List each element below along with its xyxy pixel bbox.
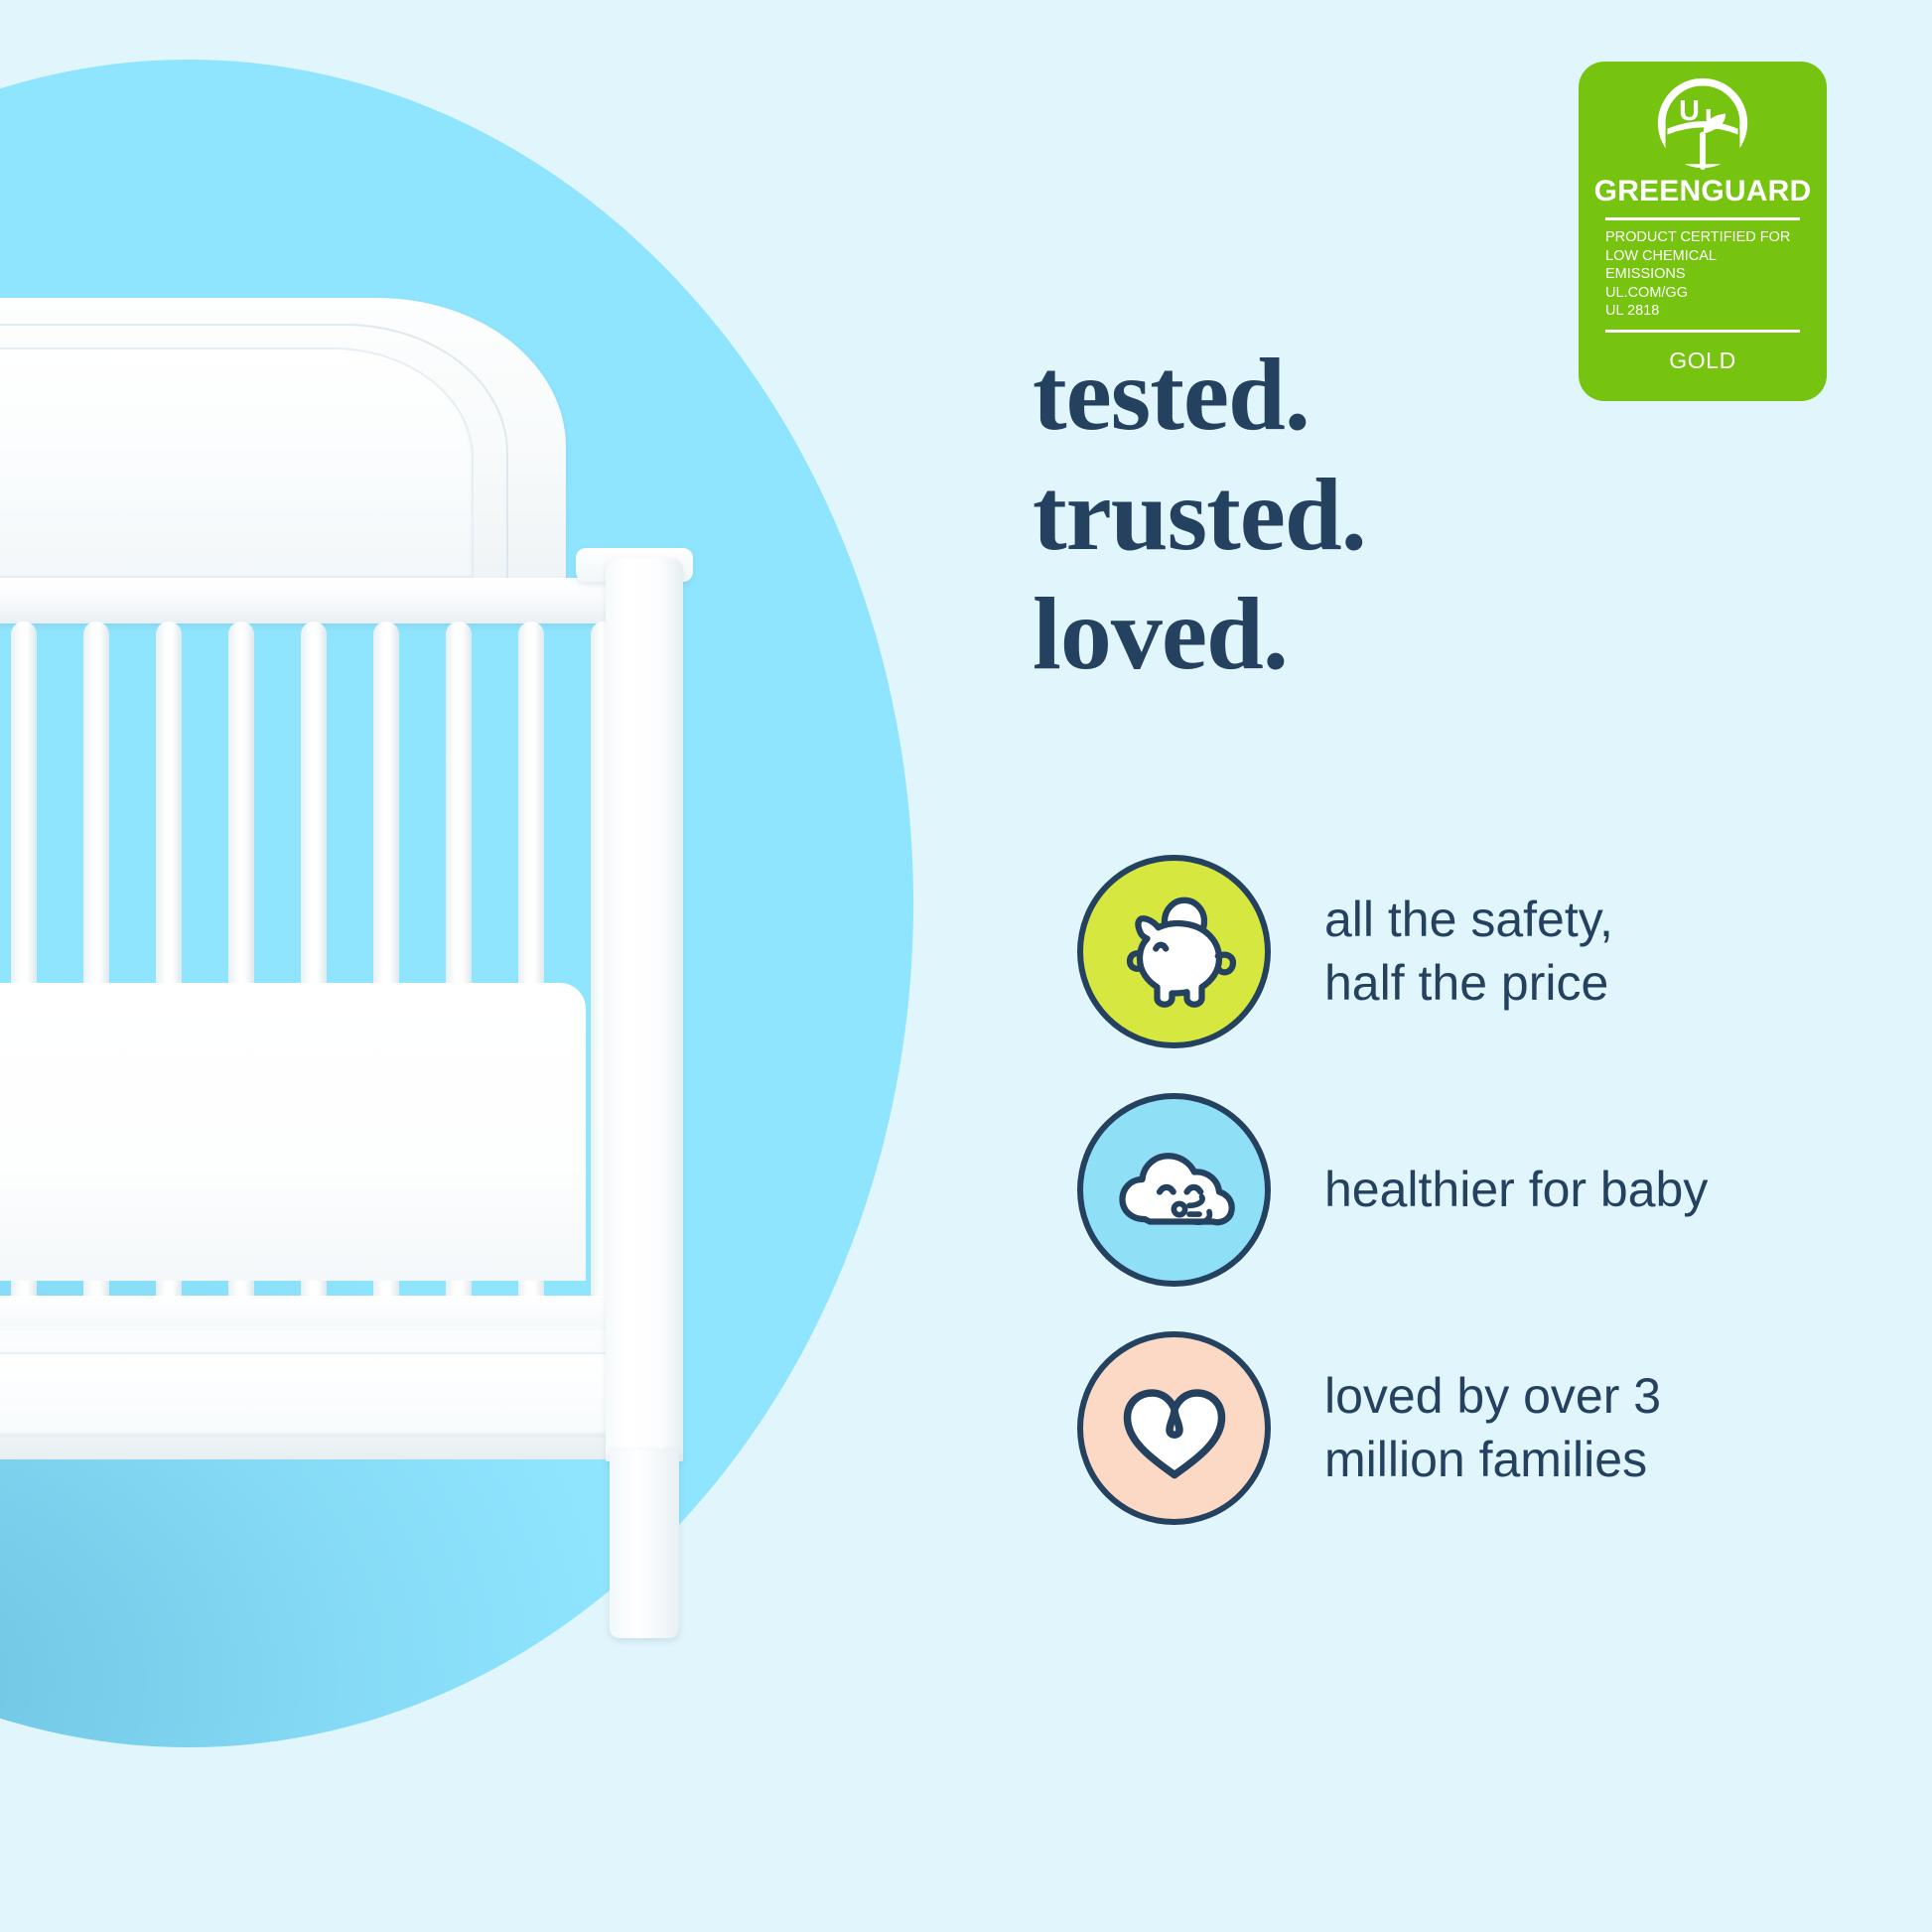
crib-top-rail bbox=[0, 578, 675, 623]
greenguard-level: GOLD bbox=[1669, 347, 1736, 374]
headline-line-1: tested. bbox=[1033, 336, 1366, 456]
greenguard-detail-line-4: UL 2818 bbox=[1605, 302, 1800, 321]
feature-1-line-1: all the safety, bbox=[1324, 888, 1613, 951]
greenguard-detail-line-2: LOW CHEMICAL EMISSIONS bbox=[1605, 247, 1800, 284]
crib-skirt-panel bbox=[0, 1330, 675, 1459]
cloud-face-icon bbox=[1077, 1093, 1271, 1287]
greenguard-detail-line-3: UL.COM/GG bbox=[1605, 284, 1800, 303]
feature-list: all the safety, half the price healthier… bbox=[1077, 832, 1871, 1547]
crib-headboard bbox=[0, 298, 566, 596]
piggy-bank-icon bbox=[1077, 855, 1271, 1048]
greenguard-certification-badge: U L GREENGUARD PRODUCT CERTIFIED FOR LOW… bbox=[1579, 62, 1827, 401]
heart-icon bbox=[1077, 1331, 1271, 1525]
greenguard-detail-line-1: PRODUCT CERTIFIED FOR bbox=[1605, 228, 1800, 247]
headline: tested. trusted. loved. bbox=[1033, 336, 1366, 695]
headline-line-3: loved. bbox=[1033, 575, 1366, 695]
feature-row-loved: loved by over 3 million families bbox=[1077, 1309, 1871, 1547]
ul-leaf-icon: U L bbox=[1655, 75, 1750, 171]
feature-text-loved: loved by over 3 million families bbox=[1324, 1364, 1661, 1491]
marketing-image: U L GREENGUARD PRODUCT CERTIFIED FOR LOW… bbox=[0, 0, 1932, 1932]
crib-product-image bbox=[0, 298, 804, 1787]
headline-line-2: trusted. bbox=[1033, 456, 1366, 576]
badge-divider-bottom bbox=[1605, 330, 1800, 333]
feature-3-line-1: loved by over 3 bbox=[1324, 1364, 1661, 1428]
svg-text:U: U bbox=[1679, 95, 1700, 127]
feature-1-line-2: half the price bbox=[1324, 951, 1613, 1015]
greenguard-details: PRODUCT CERTIFIED FOR LOW CHEMICAL EMISS… bbox=[1605, 228, 1800, 321]
crib-leg bbox=[610, 1449, 679, 1638]
crib-corner-post bbox=[606, 558, 683, 1461]
badge-divider-top bbox=[1605, 217, 1800, 220]
feature-row-safety-price: all the safety, half the price bbox=[1077, 832, 1871, 1070]
feature-text-healthier: healthier for baby bbox=[1324, 1158, 1708, 1221]
crib-mattress bbox=[0, 983, 586, 1281]
feature-text-safety-price: all the safety, half the price bbox=[1324, 888, 1613, 1015]
feature-2-line-1: healthier for baby bbox=[1324, 1158, 1708, 1221]
greenguard-title: GREENGUARD bbox=[1594, 175, 1812, 208]
feature-row-healthier: healthier for baby bbox=[1077, 1070, 1871, 1309]
crib-headboard-molding bbox=[0, 324, 508, 590]
svg-text:L: L bbox=[1705, 104, 1723, 136]
feature-3-line-2: million families bbox=[1324, 1428, 1661, 1491]
